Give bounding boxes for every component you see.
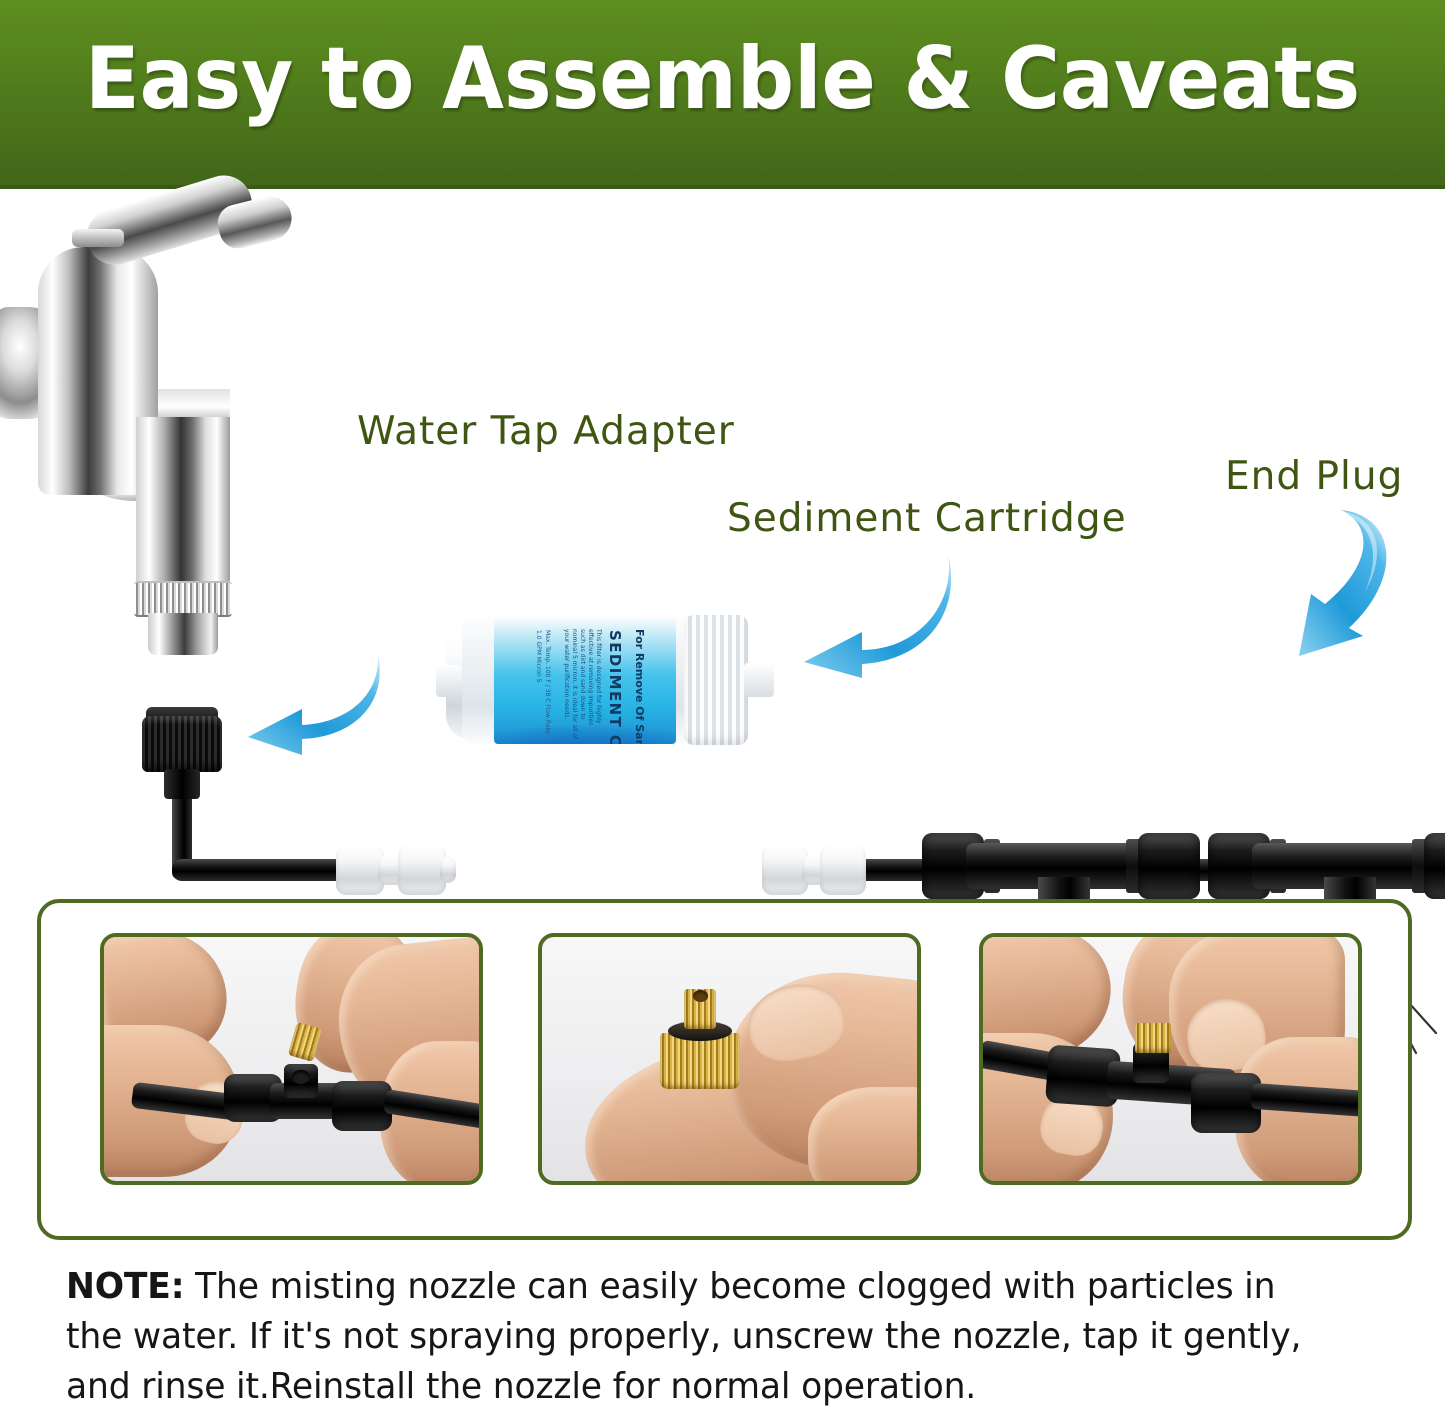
header-banner: Easy to Assemble & Caveats [0,0,1445,189]
quick-connector-left-tip [440,857,456,883]
faucet-cap [72,229,124,247]
tap-adapter-body [142,716,222,772]
arrow-to-sediment-cartridge-icon [790,544,960,679]
faucet-threaded-ring [134,581,232,617]
photo2-nozzle-orifice [693,990,708,1002]
photo-gallery-frame [37,899,1412,1240]
label-sediment-cartridge: Sediment Cartridge [727,496,1127,541]
tee-2-nut-right [1424,833,1445,899]
photo1-tee-port-hole [292,1070,310,1084]
label-water-tap-adapter: Water Tap Adapter [357,409,735,454]
page-title: Easy to Assemble & Caveats [51,28,1395,130]
assembly-diagram: Max. Temp. 100 F / 38 C Flow Rate 1.0 GP… [0,189,1445,889]
cartridge-tiny-print: Max. Temp. 100 F / 38 C Flow Rate 1.0 GP… [534,630,552,738]
arrow-to-tap-adapter-icon [228,637,388,757]
faucet-spout [136,417,230,587]
quick-connector-left-barrel-b [398,845,446,895]
label-end-plug: End Plug [1225,454,1403,499]
infographic-page: Easy to Assemble & Caveats [0,0,1445,1406]
cartridge-outlet-nipple [744,663,774,697]
cartridge-subtitle: For Remove Of Sand Dirt And Rust Particl… [632,629,646,744]
quick-connector-right-barrel-b [820,845,866,895]
tube-main-horizontal [196,859,356,881]
sediment-cartridge: Max. Temp. 100 F / 38 C Flow Rate 1.0 GP… [446,613,766,748]
cartridge-label: Max. Temp. 100 F / 38 C Flow Rate 1.0 GP… [494,616,676,744]
tee-1-nut-right [1138,833,1200,899]
note-body: The misting nozzle can easily become clo… [66,1266,1301,1406]
note-block: NOTE: The misting nozzle can easily beco… [66,1262,1333,1406]
tap-adapter-stem [164,769,200,799]
note-prefix: NOTE: [66,1266,184,1307]
photo2-nozzle-knurled-body [660,1033,740,1089]
cartridge-right-cap [684,615,748,745]
quick-connector-left-barrel-a [336,845,384,895]
photo3-brass-nozzle [1135,1023,1171,1053]
photo-nozzle-closeup [538,933,921,1185]
photo-install-nozzle [979,933,1362,1185]
cartridge-title: SEDIMENT CARTRIDGE [606,630,624,744]
arrow-to-end-plug-icon [1275,504,1415,664]
cartridge-inlet-nipple [436,665,462,697]
faucet-outlet-tip [148,613,218,655]
cartridge-fine-print: This filter is designed for highly effec… [562,629,602,741]
photo-remove-nozzle [100,933,483,1185]
